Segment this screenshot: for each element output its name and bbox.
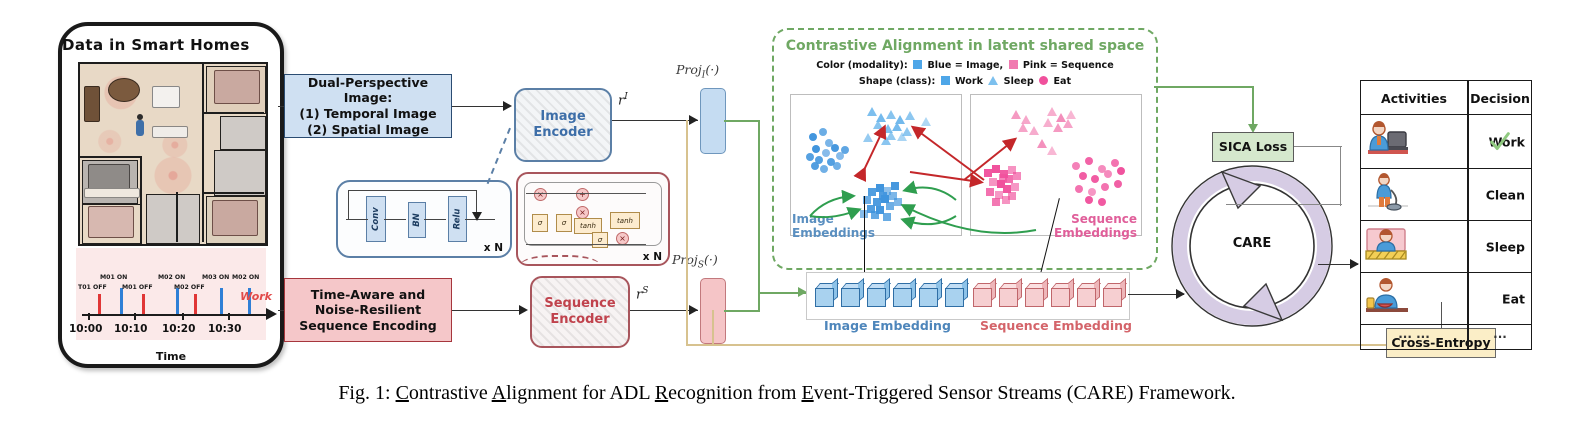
scatter-point-sleep [873, 120, 883, 129]
event-label: M02 ON [158, 274, 185, 281]
connector [384, 219, 406, 220]
scatter-point-eat [1101, 183, 1109, 191]
table-row: ··· ··· ··· [1361, 325, 1531, 349]
event-label: M03 ON [202, 274, 229, 281]
dual-perspective-image-box: Dual-Perspective Image: (1) Temporal Ima… [284, 74, 452, 138]
image-encoder-line-2: Encoder [533, 125, 592, 141]
caption-u4: E [801, 382, 813, 404]
connector [452, 106, 504, 107]
scatter-point-work [886, 202, 894, 210]
dual-line-1: Dual-Perspective Image: [285, 75, 451, 106]
scatter-point-eat [833, 162, 841, 170]
sequence-embedding-cube [1051, 283, 1073, 305]
sequence-embedding-row-label: Sequence Embedding [980, 318, 1132, 333]
activity-ellipsis: ··· ··· [1361, 325, 1467, 349]
arrow-icon [503, 101, 512, 111]
caption-prefix: Fig. 1: [338, 382, 395, 404]
connector-tan [712, 310, 714, 344]
sequence-encoding-box: Time-Aware and Noise-Resilient Sequence … [284, 278, 452, 342]
scatter-point-eat [1072, 162, 1080, 170]
event-label: M02 OFF [174, 284, 205, 291]
sequence-encoder-block: Sequence Encoder [530, 276, 630, 348]
activity-label: Sleep [1486, 239, 1525, 254]
person-in-bed-icon [1364, 224, 1412, 264]
dual-line-3: (2) Spatial Image [285, 122, 451, 138]
scatter-point-sleep [921, 117, 931, 126]
scatter-point-sleep [881, 136, 891, 145]
sigmoid-gate: σ [556, 214, 572, 232]
r-image-label: rI [618, 92, 628, 108]
legend-square-icon [941, 76, 950, 85]
table-row[interactable]: Sleep [1361, 221, 1531, 273]
scatter-point-work [891, 182, 899, 190]
arrow-icon [689, 305, 698, 315]
event-label: M01 OFF [122, 284, 153, 291]
event-marker-m01-off [142, 294, 145, 314]
sequence-embeddings-label: Sequence Embeddings [1054, 212, 1137, 240]
caption-u2: A [492, 382, 506, 404]
connector-tan [686, 344, 1388, 346]
image-embedding-cube [815, 283, 837, 305]
scatter-point-sleep [1029, 126, 1039, 135]
scatter-point-eat [822, 149, 830, 157]
image-embedding-cube [867, 283, 889, 305]
scatter-point-sleep [892, 122, 902, 131]
connector [424, 219, 446, 220]
scatter-point-sleep [1018, 123, 1028, 132]
skip-connection [476, 190, 477, 214]
skip-connection [348, 190, 476, 191]
sequence-embedding-cube [999, 283, 1021, 305]
scatter-point-eat [819, 128, 827, 136]
r-sequence-label: rS [636, 286, 648, 302]
scatter-point-eat [841, 146, 849, 154]
connector-green [1154, 86, 1254, 88]
table-row[interactable]: Work [1361, 115, 1531, 169]
event-marker-t01-off [98, 294, 101, 314]
scatter-point-eat [1085, 157, 1093, 165]
event-marker-m02-on [176, 288, 179, 314]
person-vacuuming-icon [1364, 172, 1412, 212]
connector-green [724, 120, 760, 122]
table-header-activities: Activities [1361, 81, 1467, 115]
scatter-point-sleep [863, 133, 873, 142]
scatter-point-work [1013, 172, 1021, 180]
caption-u3: R [655, 382, 668, 404]
timeline-axis [82, 314, 266, 316]
scatter-point-sleep [905, 111, 915, 120]
scatter-point-sleep [1011, 110, 1021, 119]
scatter-point-work [879, 192, 887, 200]
scatter-point-work [992, 198, 1000, 206]
lstm-cell-block: × + × × σ σ tanh tanh σ x N [516, 172, 670, 266]
connector [1294, 146, 1342, 147]
scatter-point-sleep [886, 110, 896, 119]
event-marker-m01-on [120, 288, 123, 314]
conv-layer: Conv [366, 196, 386, 242]
legend-circle-icon [1039, 76, 1048, 85]
hidden-state-line [526, 244, 646, 245]
care-label: CARE [1204, 236, 1300, 251]
time-tick-label: 10:20 [162, 323, 195, 335]
arrow-icon [519, 305, 528, 315]
timeline-activity-label: Work [240, 290, 272, 303]
sequence-embedding-cube [1077, 283, 1099, 305]
time-tick-label: 10:00 [69, 323, 102, 335]
scatter-point-work [1011, 183, 1019, 191]
legend-shape-row: Shape (class): Work Sleep Eat [774, 76, 1156, 87]
scatter-point-eat [1114, 180, 1122, 188]
caption-u1: C [396, 382, 409, 404]
activities-decision-table: Activities Decision Work [1360, 80, 1532, 350]
scatter-point-work [999, 174, 1007, 182]
connector-tan [686, 120, 688, 344]
scatter-point-work [992, 165, 1000, 173]
dashed-guide [520, 255, 600, 281]
legend-pink-swatch-icon [1009, 60, 1018, 69]
scatter-point-sleep [1047, 146, 1057, 155]
scatter-point-eat [806, 153, 814, 161]
cnn-residual-block: Conv BN Relu x N [336, 180, 512, 258]
scatter-point-eat [1075, 185, 1083, 193]
connector-green [724, 310, 760, 312]
image-embedding-cube [893, 283, 915, 305]
activity-label: Clean [1486, 187, 1525, 202]
table-row[interactable]: Clean [1361, 169, 1531, 221]
timeline-arrow-icon [266, 308, 277, 320]
sigmoid-gate: σ [592, 232, 608, 248]
event-marker-m03-on [220, 288, 223, 314]
event-label: M02 ON [232, 274, 259, 281]
time-tick-label: 10:10 [114, 323, 147, 335]
tanh-gate: tanh [610, 212, 640, 229]
table-header-row: Activities Decision [1361, 81, 1531, 115]
connector-green [1252, 86, 1254, 126]
scatter-point-eat [1085, 196, 1093, 204]
connector [1340, 146, 1341, 206]
scatter-point-sleep [1043, 118, 1053, 127]
legend-work-text: Work [955, 76, 983, 87]
scatter-point-sleep [897, 132, 907, 141]
legend-color-label: Color (modality): [816, 60, 908, 71]
connector-green [758, 120, 760, 310]
person-at-desk-icon [1364, 118, 1412, 158]
table-row[interactable]: Eat [1361, 273, 1531, 325]
cell-state-line [526, 193, 646, 194]
sequence-embedding-cube [1103, 283, 1125, 305]
image-encoder-line-1: Image [533, 109, 592, 125]
image-embedding-cube [919, 283, 941, 305]
contrastive-alignment-panel: Contrastive Alignment in latent shared s… [772, 28, 1158, 270]
legend-blue-text: Blue = Image, [927, 60, 1003, 71]
scatter-point-work [984, 169, 992, 177]
multiply-op: × [534, 188, 547, 201]
image-embeddings-label: Image Embeddings [792, 212, 875, 240]
scatter-point-eat [1111, 159, 1119, 167]
legend-blue-swatch-icon [913, 60, 922, 69]
sequence-embedding-cube [973, 283, 995, 305]
scatter-point-eat [1098, 198, 1106, 206]
image-encoder-block: Image Encoder [514, 88, 612, 162]
decision-ellipsis: ··· [1469, 325, 1531, 349]
pointer-line [864, 196, 865, 274]
scatter-point-eat [1088, 188, 1096, 196]
image-embedding-cube [945, 283, 967, 305]
lstm-repeat-label: x N [643, 251, 662, 263]
event-marker-m02-off [194, 294, 197, 314]
event-label: T01 OFF [78, 284, 107, 291]
connector [1226, 204, 1342, 205]
legend-sleep-text: Sleep [1004, 76, 1034, 87]
projection-head-image [700, 88, 726, 154]
legend-color-row: Color (modality): Blue = Image, Pink = S… [774, 60, 1156, 71]
figure-caption: Fig. 1: Contrastive Alignment for ADL Re… [0, 382, 1574, 405]
scatter-point-sleep [1066, 110, 1076, 119]
legend-shape-label: Shape (class): [859, 76, 935, 87]
scatter-point-eat [1117, 167, 1125, 175]
connector [452, 310, 520, 311]
arrow-icon [472, 212, 482, 221]
scatter-point-sleep [1053, 123, 1063, 132]
connector [346, 219, 368, 220]
image-embedding-row-label: Image Embedding [824, 318, 951, 333]
decision-check-icon [1469, 115, 1531, 169]
scatter-point-eat [811, 162, 819, 170]
seq-line-1: Time-Aware and [299, 287, 436, 303]
legend-triangle-icon [988, 76, 998, 85]
proj-image-label: ProjI(·) [676, 62, 719, 81]
image-embedding-cube [841, 283, 863, 305]
proj-sequence-label: ProjS(·) [672, 252, 718, 271]
scatter-point-sleep [867, 107, 877, 116]
sequence-embedding-cube [1025, 283, 1047, 305]
scatter-point-sleep [1063, 119, 1073, 128]
event-label: M01 ON [100, 274, 127, 281]
floorplan-image [78, 62, 268, 246]
scatter-point-work [894, 198, 902, 206]
scatter-point-work [989, 178, 997, 186]
dual-line-2: (1) Temporal Image [285, 106, 451, 122]
embedding-token-row [806, 272, 1130, 320]
scatter-point-eat [1104, 170, 1112, 178]
figure-canvas: Data in Smart Homes [0, 0, 1574, 448]
sigmoid-gate: σ [532, 214, 548, 232]
time-tick-label: 10:30 [208, 323, 241, 335]
legend-pink-text: Pink = Sequence [1023, 60, 1114, 71]
scatter-point-eat [812, 145, 820, 153]
cnn-repeat-label: x N [484, 242, 503, 254]
scatter-point-eat [809, 133, 817, 141]
scatter-point-eat [831, 144, 839, 152]
contrastive-title: Contrastive Alignment in latent shared s… [774, 38, 1156, 54]
scatter-point-work [1008, 192, 1016, 200]
seq-line-3: Sequence Encoding [299, 318, 436, 334]
arrow-icon [1350, 259, 1359, 269]
scatter-point-work [986, 188, 994, 196]
skip-connection [348, 190, 349, 219]
arrow-icon [689, 115, 698, 125]
sequence-encoder-line-1: Sequence [544, 296, 615, 312]
scatter-point-work [868, 188, 876, 196]
scatter-point-sleep [1047, 107, 1057, 116]
activity-label: Eat [1502, 291, 1525, 306]
table-header-decision: Decision [1469, 81, 1531, 115]
scatter-point-eat [820, 165, 828, 173]
sequence-encoder-line-2: Encoder [544, 312, 615, 328]
scatter-point-eat [1079, 172, 1087, 180]
add-op: + [576, 188, 589, 201]
legend-eat-text: Eat [1053, 76, 1071, 87]
timeline-axis-label: Time [62, 350, 280, 363]
phone-title: Data in Smart Homes [62, 36, 280, 54]
seq-line-2: Noise-Resilient [299, 302, 436, 318]
smart-home-phone-mockup: Data in Smart Homes [58, 22, 284, 368]
scatter-point-eat [1091, 175, 1099, 183]
scatter-point-work [883, 213, 891, 221]
person-eating-icon [1364, 276, 1412, 316]
scatter-point-sleep [1037, 139, 1047, 148]
